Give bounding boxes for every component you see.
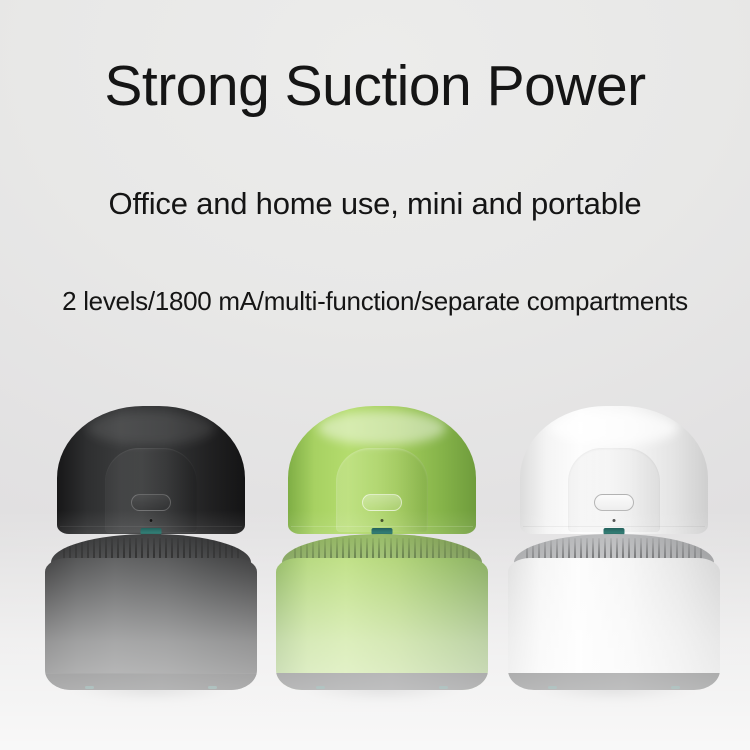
product-green bbox=[276, 406, 488, 696]
foot-left bbox=[85, 686, 94, 689]
product-white bbox=[508, 406, 720, 696]
cap-seam-line bbox=[523, 526, 705, 527]
cap-highlight bbox=[87, 411, 215, 445]
power-button bbox=[594, 494, 634, 511]
base-ring bbox=[276, 673, 488, 690]
cap-seam-line bbox=[291, 526, 473, 527]
foot-right bbox=[439, 686, 448, 689]
page-title: Strong Suction Power bbox=[0, 56, 750, 118]
dust-compartment-body bbox=[508, 558, 720, 690]
power-button bbox=[131, 494, 171, 511]
cap-highlight bbox=[550, 411, 678, 445]
top-cap bbox=[520, 406, 708, 534]
status-led-icon bbox=[150, 519, 153, 522]
product-black bbox=[45, 406, 257, 696]
power-button bbox=[362, 494, 402, 511]
subtitle: Office and home use, mini and portable bbox=[0, 186, 750, 222]
cap-seam-line bbox=[60, 526, 242, 527]
cap-highlight bbox=[318, 411, 446, 445]
foot-left bbox=[548, 686, 557, 689]
foot-right bbox=[208, 686, 217, 689]
top-cap bbox=[288, 406, 476, 534]
spec-line: 2 levels/1800 mA/multi-function/separate… bbox=[0, 286, 750, 317]
status-led-icon bbox=[613, 519, 616, 522]
top-cap bbox=[57, 406, 245, 534]
dust-compartment-body bbox=[45, 558, 257, 690]
base-ring bbox=[45, 673, 257, 690]
dust-compartment-body bbox=[276, 558, 488, 690]
base-ring bbox=[508, 673, 720, 690]
status-led-icon bbox=[381, 519, 384, 522]
foot-left bbox=[316, 686, 325, 689]
product-banner: Strong Suction Power Office and home use… bbox=[0, 0, 750, 750]
foot-right bbox=[671, 686, 680, 689]
